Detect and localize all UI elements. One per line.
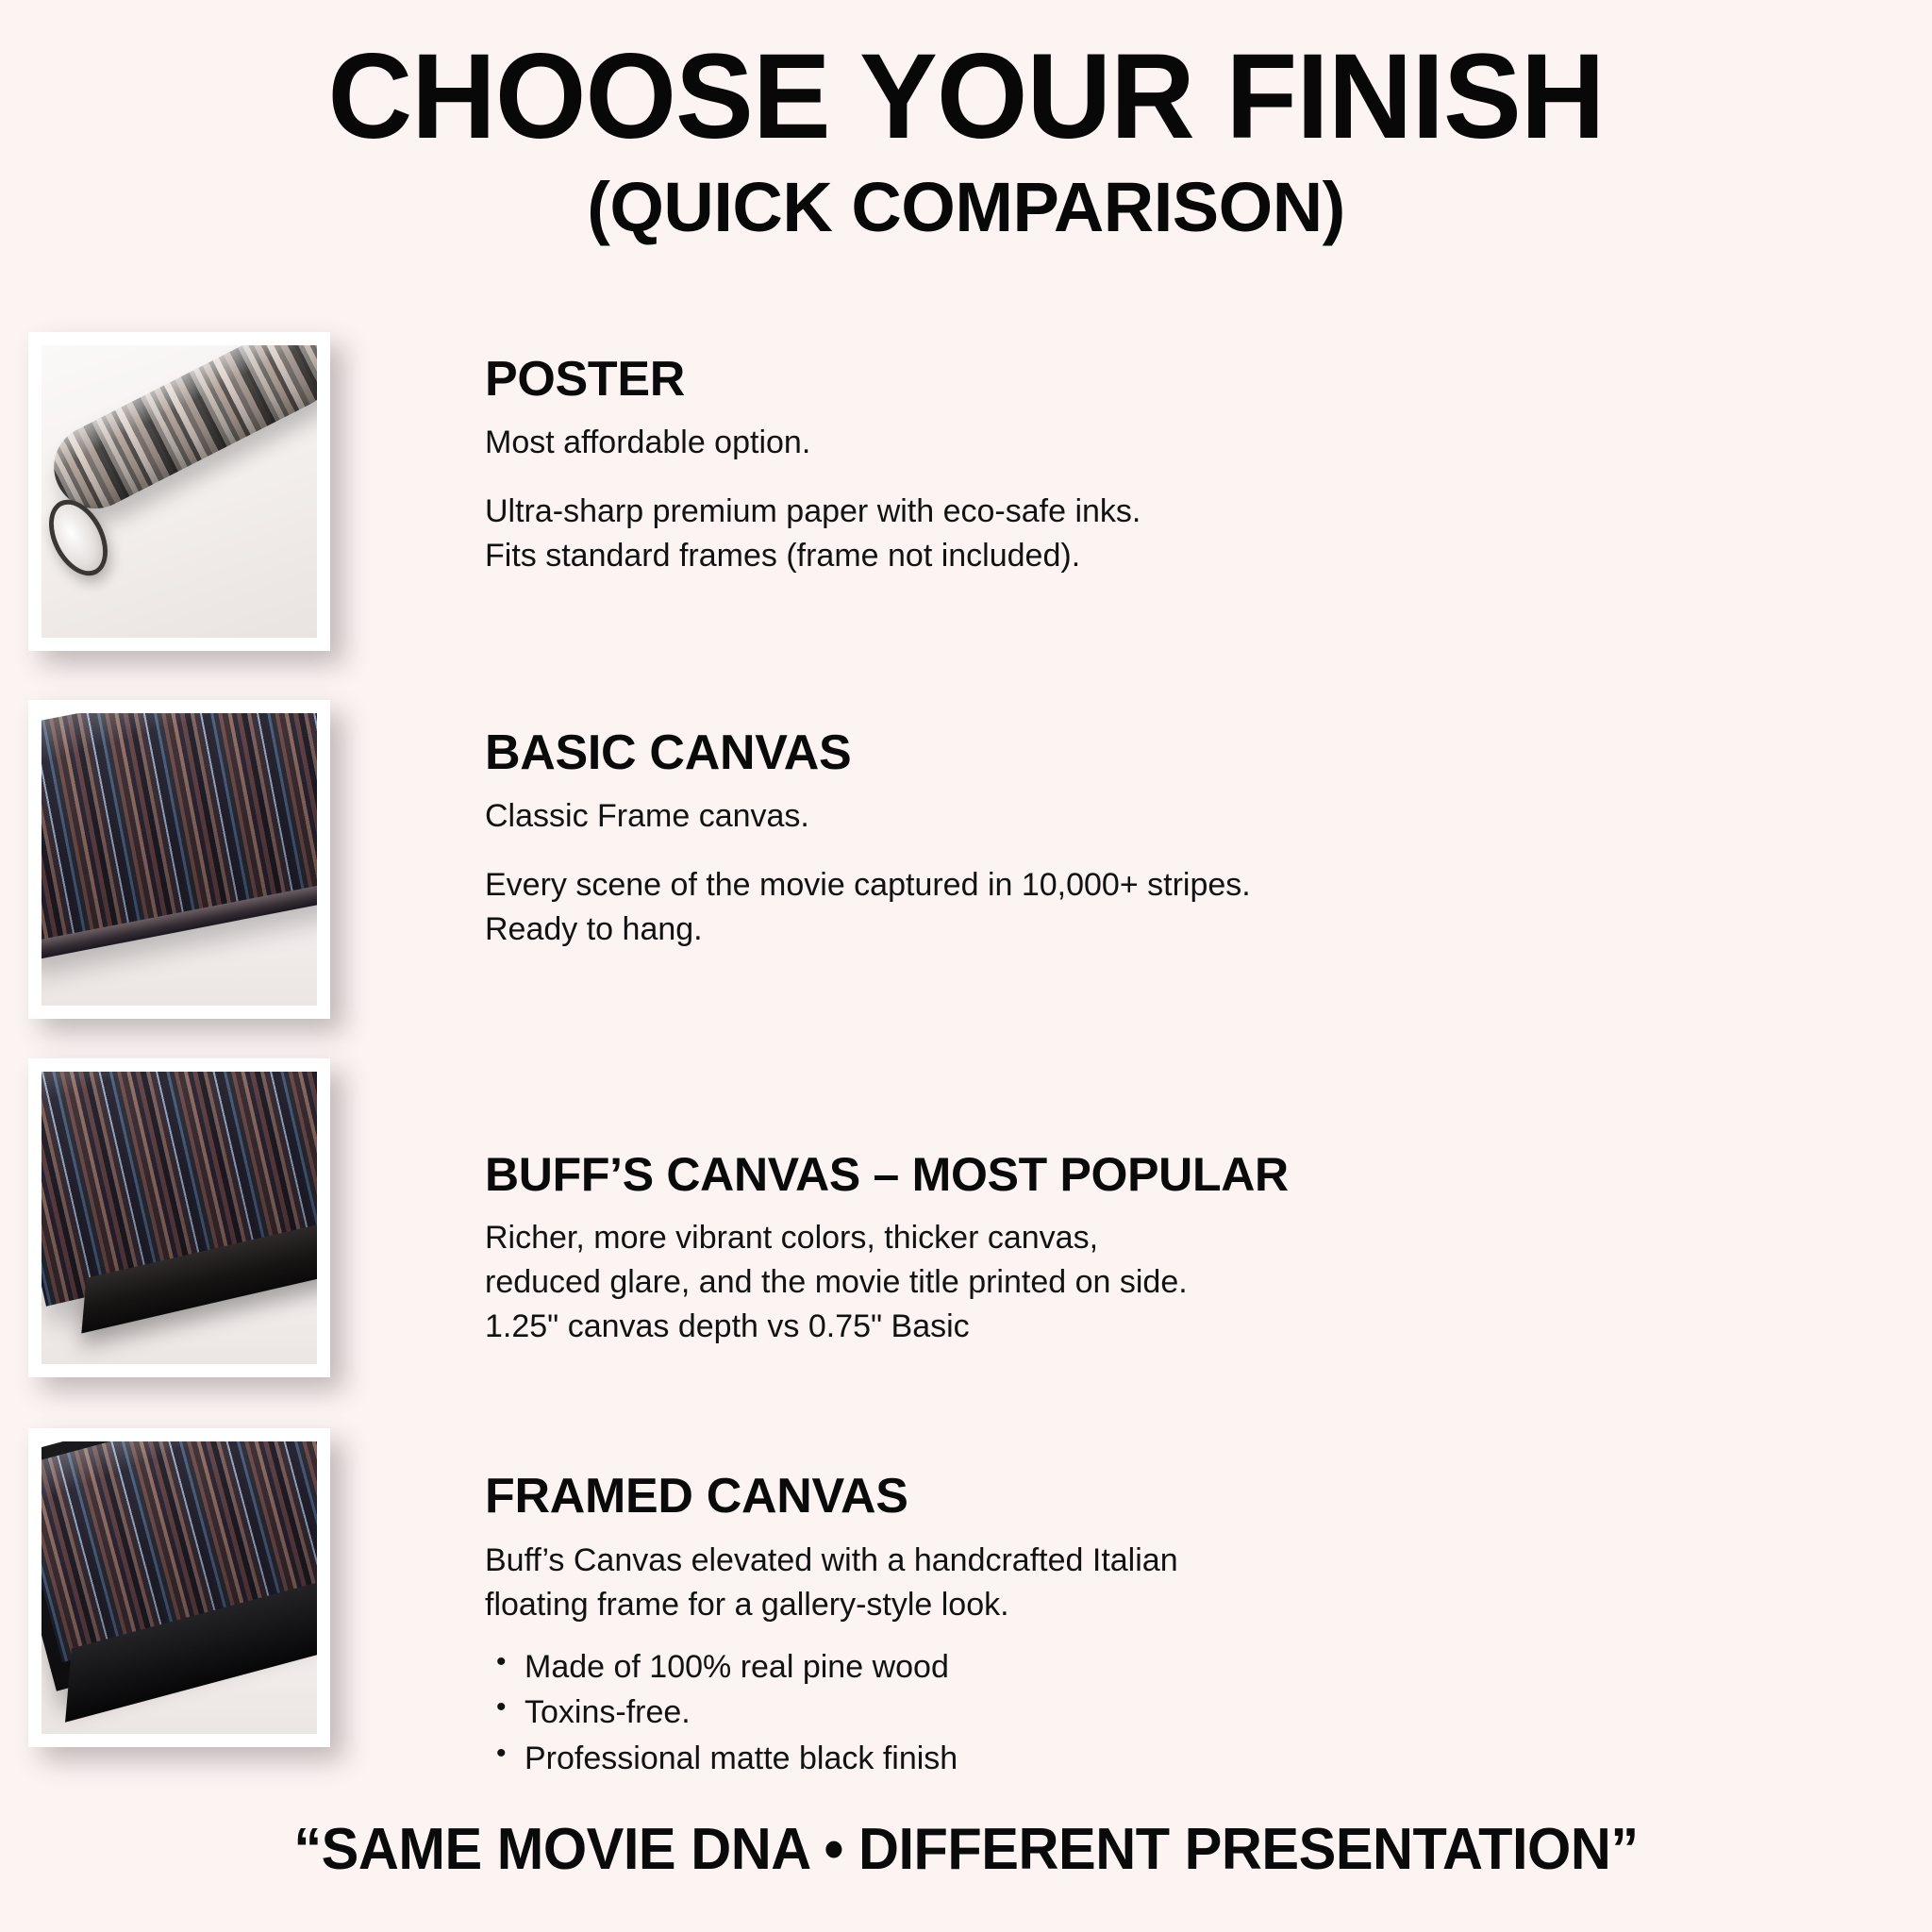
product-title: BASIC CANVAS <box>485 726 1875 780</box>
list-item: Professional matte black finish <box>496 1736 1875 1781</box>
buffs-canvas-edge-photo <box>42 1072 317 1364</box>
thumbnail-wrap-framed-canvas <box>0 1428 330 1747</box>
list-item: Toxins-free. <box>496 1690 1875 1735</box>
product-thumbnail-buffs-canvas <box>28 1058 330 1377</box>
product-body: Richer, more vibrant colors, thicker can… <box>485 1216 1875 1349</box>
body-line: floating frame for a gallery-style look. <box>485 1583 1875 1627</box>
framed-canvas-corner-photo <box>42 1441 317 1734</box>
product-body: Buff’s Canvas elevated with a handcrafte… <box>485 1539 1875 1627</box>
product-list: POSTER Most affordable option. Ultra-sha… <box>0 332 1932 1806</box>
product-title: FRAMED CANVAS <box>485 1470 1875 1524</box>
product-row-framed-canvas: FRAMED CANVAS Buff’s Canvas elevated wit… <box>0 1428 1932 1806</box>
product-thumbnail-framed-canvas <box>28 1428 330 1747</box>
infographic-page: CHOOSE YOUR FINISH (QUICK COMPARISON) PO… <box>0 0 1932 1932</box>
product-row-buffs-canvas: BUFF’S CANVAS – MOST POPULAR Richer, mor… <box>0 1058 1932 1428</box>
product-text-poster: POSTER Most affordable option. Ultra-sha… <box>330 332 1932 578</box>
product-lead: Classic Frame canvas. <box>485 795 1875 839</box>
body-line: Richer, more vibrant colors, thicker can… <box>485 1216 1875 1260</box>
thumbnail-wrap-buffs-canvas <box>0 1058 330 1377</box>
product-title: POSTER <box>485 353 1875 407</box>
product-row-poster: POSTER Most affordable option. Ultra-sha… <box>0 332 1932 700</box>
thumbnail-wrap-poster <box>0 332 330 651</box>
thumbnail-wrap-basic-canvas <box>0 700 330 1019</box>
product-body: Every scene of the movie captured in 10,… <box>485 863 1875 952</box>
product-thumbnail-basic-canvas <box>28 700 330 1019</box>
rolled-poster-photo <box>42 345 317 638</box>
body-line: Fits standard frames (frame not included… <box>485 534 1875 578</box>
product-thumbnail-poster <box>28 332 330 651</box>
header: CHOOSE YOUR FINISH (QUICK COMPARISON) <box>0 0 1932 243</box>
body-line: Every scene of the movie captured in 10,… <box>485 863 1875 908</box>
product-text-buffs-canvas: BUFF’S CANVAS – MOST POPULAR Richer, mor… <box>330 1058 1932 1349</box>
body-line: Ready to hang. <box>485 908 1875 952</box>
list-item: Made of 100% real pine wood <box>496 1644 1875 1690</box>
product-row-basic-canvas: BASIC CANVAS Classic Frame canvas. Every… <box>0 700 1932 1058</box>
body-line: Buff’s Canvas elevated with a handcrafte… <box>485 1539 1875 1583</box>
product-text-framed-canvas: FRAMED CANVAS Buff’s Canvas elevated wit… <box>330 1428 1932 1781</box>
product-lead: Most affordable option. <box>485 422 1875 465</box>
page-subtitle: (QUICK COMPARISON) <box>0 171 1932 244</box>
body-line: 1.25" canvas depth vs 0.75" Basic <box>485 1305 1875 1349</box>
body-line: Ultra-sharp premium paper with eco-safe … <box>485 490 1875 534</box>
page-title: CHOOSE YOUR FINISH <box>29 36 1904 159</box>
body-line: reduced glare, and the movie title print… <box>485 1260 1875 1305</box>
product-text-basic-canvas: BASIC CANVAS Classic Frame canvas. Every… <box>330 700 1932 952</box>
footer-tagline: “SAME MOVIE DNA • DIFFERENT PRESENTATION… <box>39 1816 1893 1883</box>
product-bullet-list: Made of 100% real pine wood Toxins-free.… <box>485 1644 1875 1781</box>
basic-canvas-edge-photo <box>42 713 317 1006</box>
product-body: Ultra-sharp premium paper with eco-safe … <box>485 490 1875 578</box>
product-title: BUFF’S CANVAS – MOST POPULAR <box>485 1149 1875 1201</box>
footer: “SAME MOVIE DNA • DIFFERENT PRESENTATION… <box>0 1816 1932 1883</box>
